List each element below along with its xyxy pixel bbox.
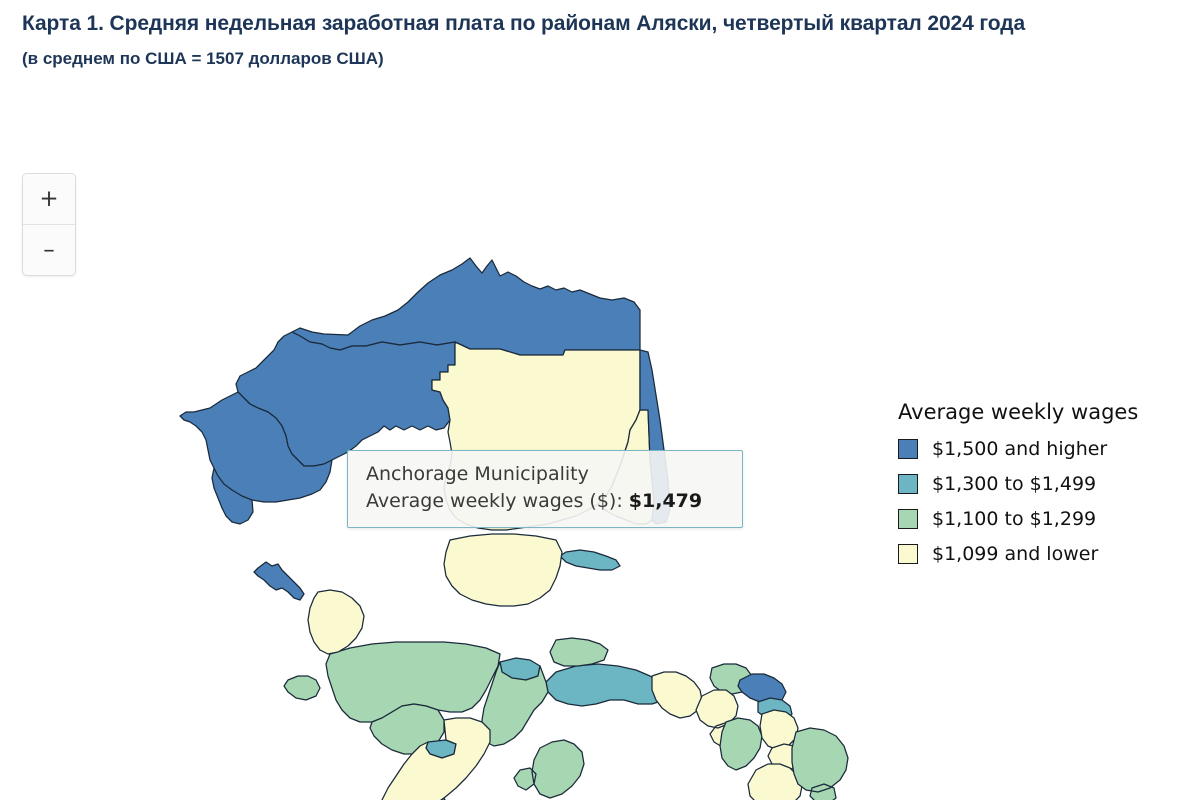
legend-label: $1,500 and higher bbox=[932, 438, 1107, 460]
region-fairbanks-north-star-borough[interactable] bbox=[560, 550, 620, 570]
region-north-slope-borough[interactable] bbox=[292, 258, 640, 355]
zoom-out-button[interactable]: – bbox=[23, 225, 75, 275]
region-sitka-city-and-borough[interactable] bbox=[720, 718, 762, 770]
legend-title: Average weekly wages bbox=[898, 400, 1188, 424]
map-tooltip: Anchorage Municipality Average weekly wa… bbox=[347, 450, 743, 528]
legend-label: $1,100 to $1,299 bbox=[932, 508, 1096, 530]
legend-items: $1,500 and higher$1,300 to $1,499$1,100 … bbox=[898, 438, 1188, 565]
legend-label: $1,300 to $1,499 bbox=[932, 473, 1096, 495]
region-matanuska-susitna-borough[interactable] bbox=[444, 534, 562, 606]
region-kodiak-island-borough[interactable] bbox=[514, 740, 584, 798]
legend-item[interactable]: $1,099 and lower bbox=[898, 543, 1188, 565]
zoom-in-button[interactable]: + bbox=[23, 174, 75, 225]
map-legend: Average weekly wages $1,500 and higher$1… bbox=[898, 400, 1188, 578]
legend-swatch bbox=[898, 439, 918, 459]
region-yakutat-city-and-borough[interactable] bbox=[652, 672, 702, 718]
page-title: Карта 1. Средняя недельная заработная пл… bbox=[22, 8, 1172, 41]
region-st-lawrence-island[interactable] bbox=[254, 562, 304, 600]
region-nunivak-island[interactable] bbox=[284, 676, 320, 700]
legend-swatch bbox=[898, 509, 918, 529]
region-petersburg-borough[interactable] bbox=[760, 710, 798, 750]
region-valdez-cordova[interactable] bbox=[546, 664, 668, 706]
legend-label: $1,099 and lower bbox=[932, 543, 1098, 565]
title-block: Карта 1. Средняя недельная заработная пл… bbox=[22, 8, 1172, 70]
tooltip-metric-line: Average weekly wages ($): $1,479 bbox=[366, 489, 726, 515]
page-subtitle: (в среднем по США = 1507 долларов США) bbox=[22, 47, 1172, 71]
tooltip-metric-label: Average weekly wages ($): bbox=[366, 490, 623, 512]
legend-swatch bbox=[898, 474, 918, 494]
tooltip-region-name: Anchorage Municipality bbox=[366, 462, 726, 488]
tooltip-metric-value: $1,479 bbox=[629, 490, 702, 512]
zoom-control[interactable]: + – bbox=[22, 173, 76, 276]
legend-item[interactable]: $1,100 to $1,299 bbox=[898, 508, 1188, 530]
legend-swatch bbox=[898, 544, 918, 564]
region-kusilvak-census-area[interactable] bbox=[308, 590, 364, 654]
legend-item[interactable]: $1,300 to $1,499 bbox=[898, 473, 1188, 495]
legend-item[interactable]: $1,500 and higher bbox=[898, 438, 1188, 460]
